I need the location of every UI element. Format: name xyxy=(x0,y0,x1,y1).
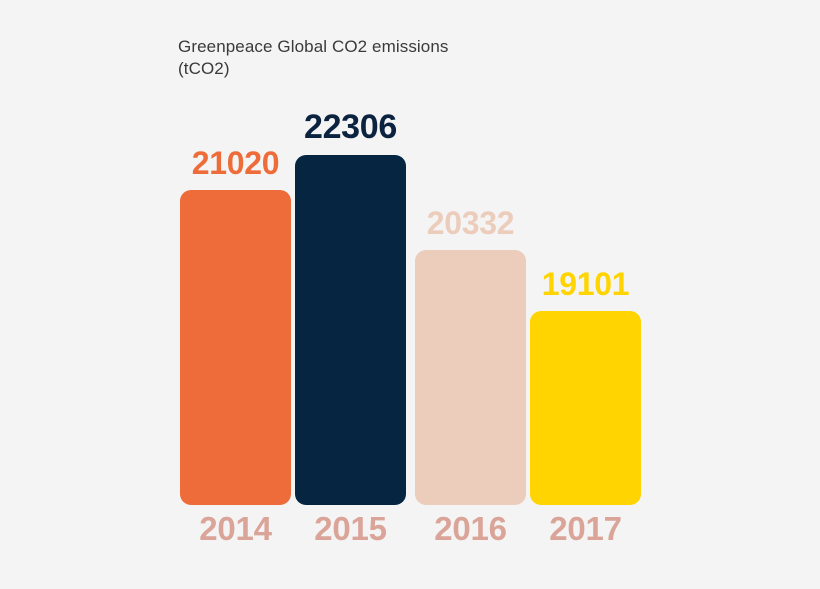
x-axis-labels: 2014 2015 2016 2017 xyxy=(180,510,642,560)
bar-2014[interactable] xyxy=(180,190,291,505)
bar-value-label-2014: 21020 xyxy=(166,145,305,182)
bar-group-2016: 20332 xyxy=(415,90,526,505)
bar-group-2017: 19101 xyxy=(530,90,641,505)
chart-title: Greenpeace Global CO2 emissions (tCO2) xyxy=(178,36,508,80)
bar-value-label-2015: 22306 xyxy=(279,108,422,147)
x-axis-tick-2014: 2014 xyxy=(180,510,291,548)
x-axis-tick-2015: 2015 xyxy=(295,510,406,548)
bar-2015[interactable] xyxy=(295,155,406,505)
bar-group-2015: 22306 xyxy=(295,90,406,505)
x-axis-tick-2016: 2016 xyxy=(415,510,526,548)
plot-area: 21020 22306 20332 19101 xyxy=(180,90,642,505)
bar-2016[interactable] xyxy=(415,250,526,505)
bar-group-2014: 21020 xyxy=(180,90,291,505)
x-axis-tick-2017: 2017 xyxy=(530,510,641,548)
bar-value-label-2016: 20332 xyxy=(401,205,540,242)
bar-chart: Greenpeace Global CO2 emissions (tCO2) 2… xyxy=(0,0,820,589)
bar-value-label-2017: 19101 xyxy=(516,266,655,303)
bar-2017[interactable] xyxy=(530,311,641,505)
